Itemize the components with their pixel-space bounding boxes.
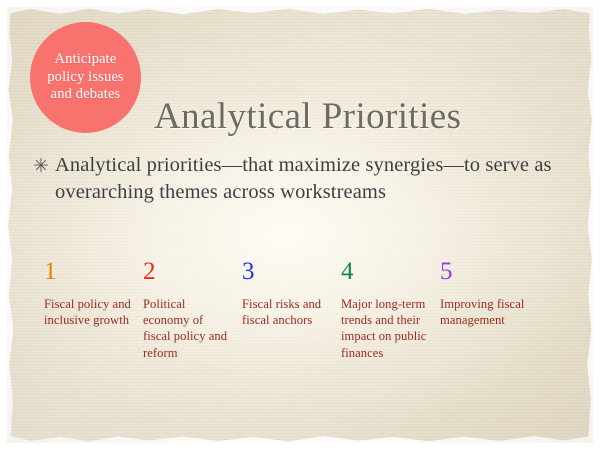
bullet-item: ✳ Analytical priorities—that maximize sy… <box>33 152 578 206</box>
priority-column: 5 Improving fiscal management <box>440 258 539 361</box>
priority-text: Major long-term trends and their impact … <box>341 296 431 361</box>
asterisk-bullet-icon: ✳ <box>33 152 55 180</box>
priority-column: 4 Major long-term trends and their impac… <box>341 258 440 361</box>
priority-text: Fiscal risks and fiscal anchors <box>242 296 332 328</box>
page-title: Analytical Priorities <box>154 96 461 138</box>
priority-number: 4 <box>341 258 431 288</box>
priority-number: 3 <box>242 258 332 288</box>
priority-column: 2 Political economy of fiscal policy and… <box>143 258 242 361</box>
priority-number: 5 <box>440 258 530 288</box>
priority-columns: 1 Fiscal policy and inclusive growth 2 P… <box>44 258 574 361</box>
priority-text: Fiscal policy and inclusive growth <box>44 296 134 328</box>
priority-column: 3 Fiscal risks and fiscal anchors <box>242 258 341 361</box>
priority-number: 2 <box>143 258 233 288</box>
callout-label: Anticipate policy issues and debates <box>30 51 141 104</box>
priority-column: 1 Fiscal policy and inclusive growth <box>44 258 143 361</box>
priority-number: 1 <box>44 258 134 288</box>
bullet-text: Analytical priorities—that maximize syne… <box>55 152 575 206</box>
priority-text: Improving fiscal management <box>440 296 530 328</box>
priority-text: Political economy of fiscal policy and r… <box>143 296 233 361</box>
slide-canvas: Anticipate policy issues and debates Ana… <box>0 0 600 450</box>
callout-circle: Anticipate policy issues and debates <box>30 22 141 133</box>
